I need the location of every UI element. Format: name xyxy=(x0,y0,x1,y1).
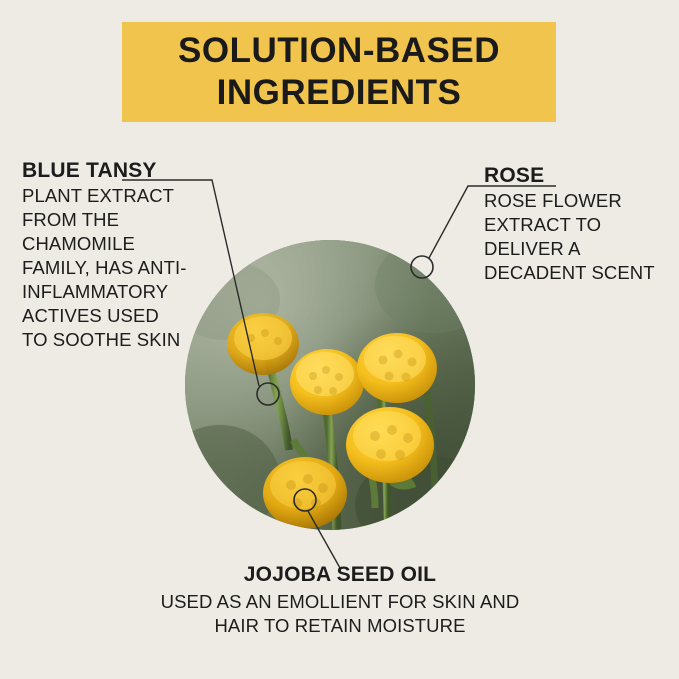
callout-rose-heading: ROSE xyxy=(484,163,664,188)
callout-jojoba-body: USED AS AN EMOLLIENT FOR SKIN AND HAIR T… xyxy=(150,590,530,638)
tansy-flower-illustration xyxy=(185,240,475,530)
callout-blue-tansy: BLUE TANSY PLANT EXTRACT FROM THE CHAMOM… xyxy=(22,158,187,352)
page-title-line-1: SOLUTION-BASED xyxy=(178,30,500,72)
callout-rose: ROSE ROSE FLOWER EXTRACT TO DELIVER A DE… xyxy=(484,163,664,285)
callout-blue-tansy-body: PLANT EXTRACT FROM THE CHAMOMILE FAMILY,… xyxy=(22,184,187,352)
infographic-page: SOLUTION-BASED INGREDIENTS xyxy=(0,0,679,679)
ingredient-photo xyxy=(185,240,475,530)
callout-blue-tansy-heading: BLUE TANSY xyxy=(22,158,187,183)
page-title-line-2: INGREDIENTS xyxy=(217,72,462,114)
title-banner: SOLUTION-BASED INGREDIENTS xyxy=(122,22,556,122)
callout-rose-body: ROSE FLOWER EXTRACT TO DELIVER A DECADEN… xyxy=(484,189,664,285)
callout-jojoba-heading: JOJOBA SEED OIL xyxy=(150,562,530,587)
callout-jojoba: JOJOBA SEED OIL USED AS AN EMOLLIENT FOR… xyxy=(150,562,530,638)
